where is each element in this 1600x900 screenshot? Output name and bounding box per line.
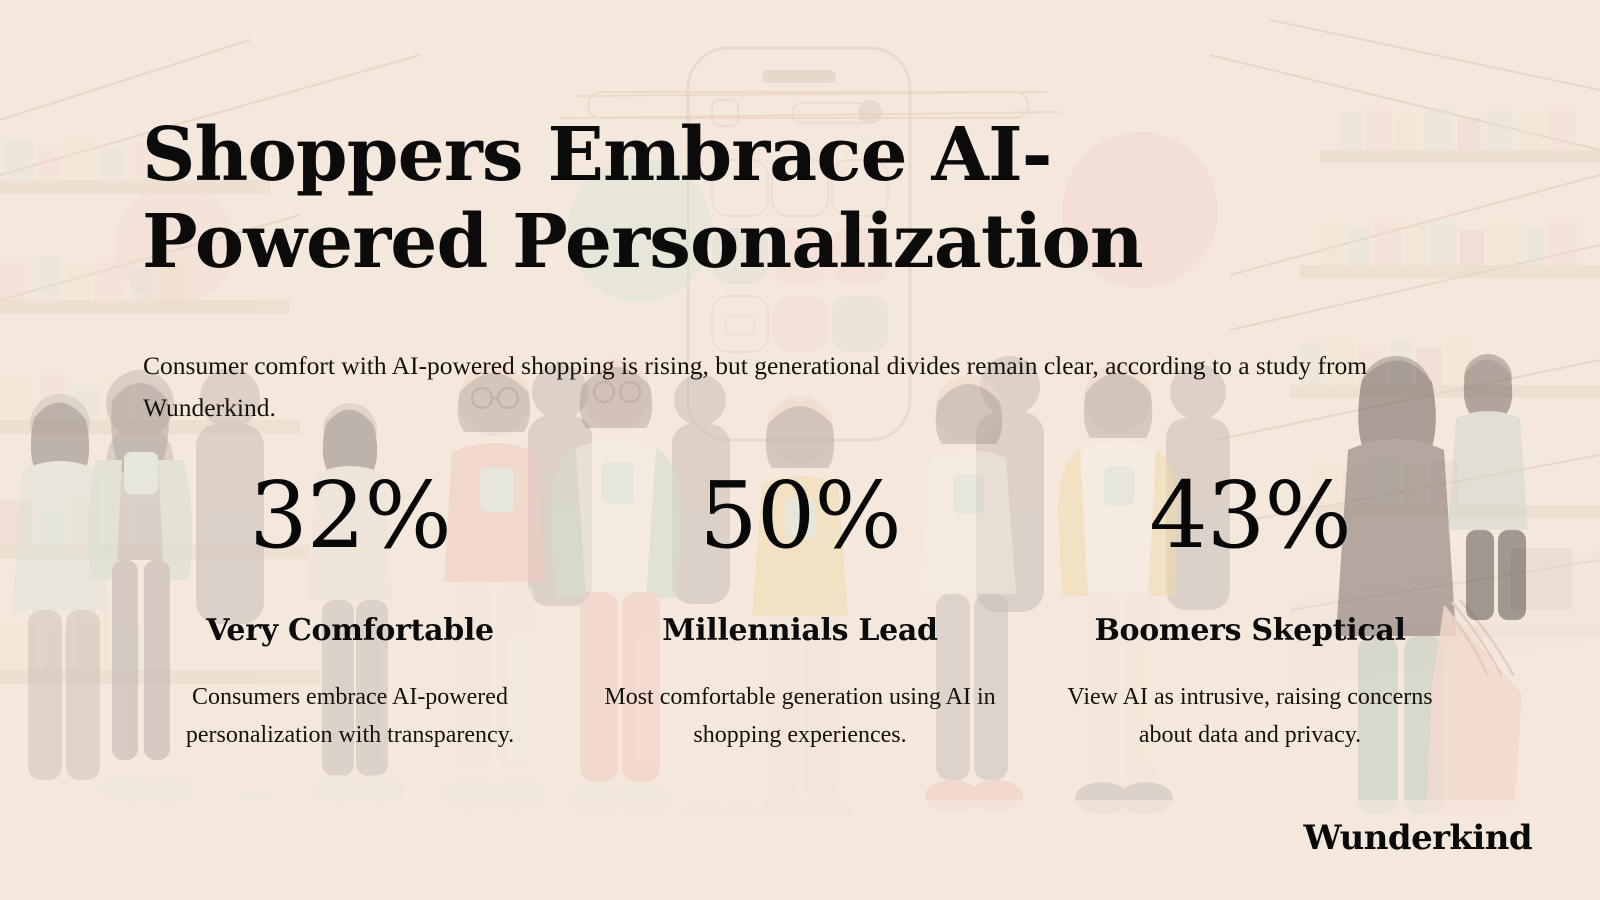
stat-label: Millennials Lead — [590, 614, 1010, 649]
stat-card: 50% Millennials Lead Most comfortable ge… — [590, 470, 1010, 755]
stat-card: 43% Boomers Skeptical View AI as intrusi… — [1040, 470, 1460, 755]
stat-card: 32% Very Comfortable Consumers embrace A… — [140, 470, 560, 755]
stat-label: Boomers Skeptical — [1040, 614, 1460, 649]
infographic-content: Shoppers Embrace AI-Powered Personalizat… — [0, 0, 1600, 900]
stat-value: 43% — [1040, 470, 1460, 562]
stat-description: Most comfortable generation using AI in … — [590, 678, 1010, 756]
infographic-canvas: Shoppers Embrace AI-Powered Personalizat… — [0, 0, 1600, 900]
stat-value: 32% — [140, 470, 560, 562]
brand-logo: Wunderkind — [1303, 818, 1532, 858]
stats-row: 32% Very Comfortable Consumers embrace A… — [140, 470, 1460, 755]
stat-description: View AI as intrusive, raising concerns a… — [1040, 678, 1460, 756]
stat-label: Very Comfortable — [140, 614, 560, 649]
stat-value: 50% — [590, 470, 1010, 562]
stat-description: Consumers embrace AI-powered personaliza… — [140, 678, 560, 756]
page-title: Shoppers Embrace AI-Powered Personalizat… — [142, 112, 1322, 287]
subtitle: Consumer comfort with AI-powered shoppin… — [143, 345, 1413, 430]
